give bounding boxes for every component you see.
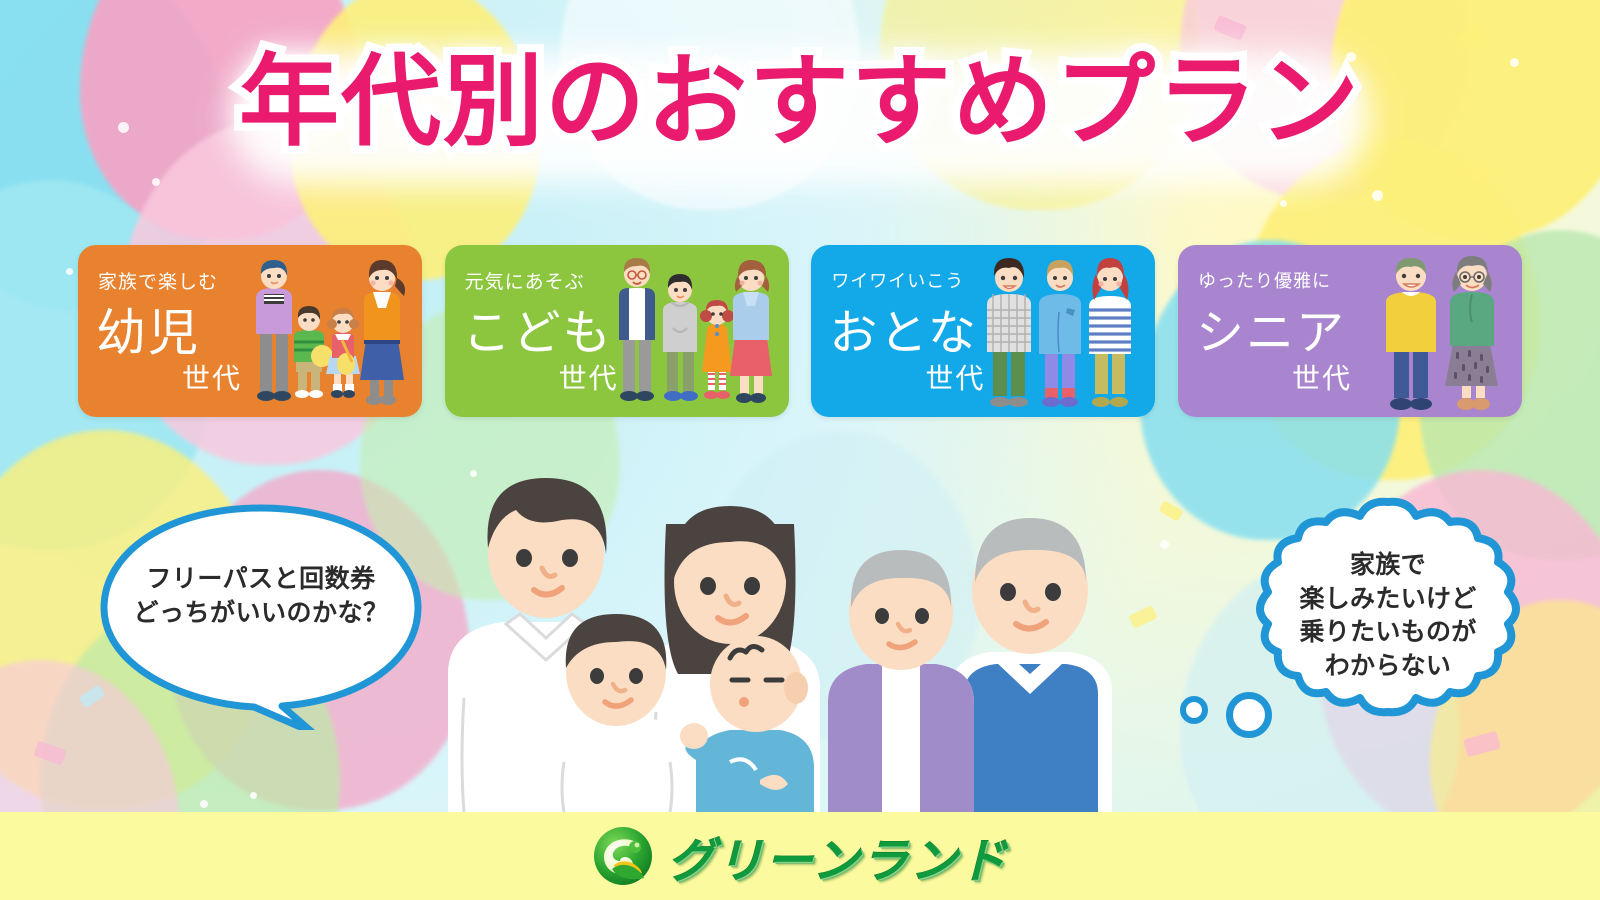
card-title: おとな [829,293,978,363]
card-generation-label: 世代 [1292,357,1352,397]
card-subtitle: ゆったり優雅に [1198,267,1331,293]
bubble-right-line-3: 乗りたいものが [1238,615,1538,649]
card-title: 幼児 [96,293,200,365]
generation-card-list: 家族で楽しむ 幼児 世代 [78,245,1522,417]
poster-canvas: 年代別のおすすめプラン [0,0,1600,900]
card-illustration-adults [975,252,1151,417]
card-text-block: ワイワイいこう おとな 世代 [811,245,997,417]
generation-card-senior[interactable]: ゆったり優雅に シニア 世代 [1178,245,1522,417]
thought-bubble-dot-small [1180,696,1208,724]
card-illustration-toddler-family [242,252,418,417]
grandmother [828,550,974,812]
thought-bubble-right: 家族で 楽しみたいけど 乗りたいものが わからない [1238,492,1538,782]
generation-card-kids[interactable]: 元気にあそぶ こども 世代 [445,245,789,417]
card-illustration-kids-family [609,252,785,417]
card-subtitle: 家族で楽しむ [98,267,218,294]
card-text-block: 元気にあそぶ こども 世代 [445,245,631,417]
speech-bubble-left: フリーパスと回数券 どっちがいいのかな？ [96,500,426,730]
bubble-left-line-2: どっちがいいのかな？ [96,596,426,630]
card-text-block: ゆったり優雅に シニア 世代 [1178,245,1364,417]
card-text-block: 家族で楽しむ 幼児 世代 [78,245,264,417]
card-illustration-senior-couple [1368,252,1518,417]
brand-name: グリーンランド [668,822,1009,891]
speech-bubble-left-text: フリーパスと回数券 どっちがいいのかな？ [96,562,426,630]
grandfather [950,518,1112,812]
card-subtitle: ワイワイいこう [831,267,964,293]
bubble-right-line-4: わからない [1238,649,1538,683]
greenland-logo-icon [592,825,654,887]
thought-bubble-right-text: 家族で 楽しみたいけど 乗りたいものが わからない [1238,548,1538,682]
page-title: 年代別のおすすめプラン [0,46,1600,158]
generation-card-adult[interactable]: ワイワイいこう おとな 世代 [811,245,1155,417]
card-title: シニア [1196,293,1346,363]
card-subtitle: 元気にあそぶ [465,267,585,294]
generation-card-toddler[interactable]: 家族で楽しむ 幼児 世代 [78,245,422,417]
card-title: こども [463,293,613,363]
bubble-right-line-1: 家族で [1238,548,1538,582]
card-generation-label: 世代 [182,357,242,397]
footer-bar: グリーンランド [0,812,1600,900]
family-illustration [430,462,1170,812]
bubble-left-line-1: フリーパスと回数券 [96,562,426,596]
bubble-right-line-2: 楽しみたいけど [1238,582,1538,616]
page-title-text: 年代別のおすすめプラン [239,46,1361,158]
